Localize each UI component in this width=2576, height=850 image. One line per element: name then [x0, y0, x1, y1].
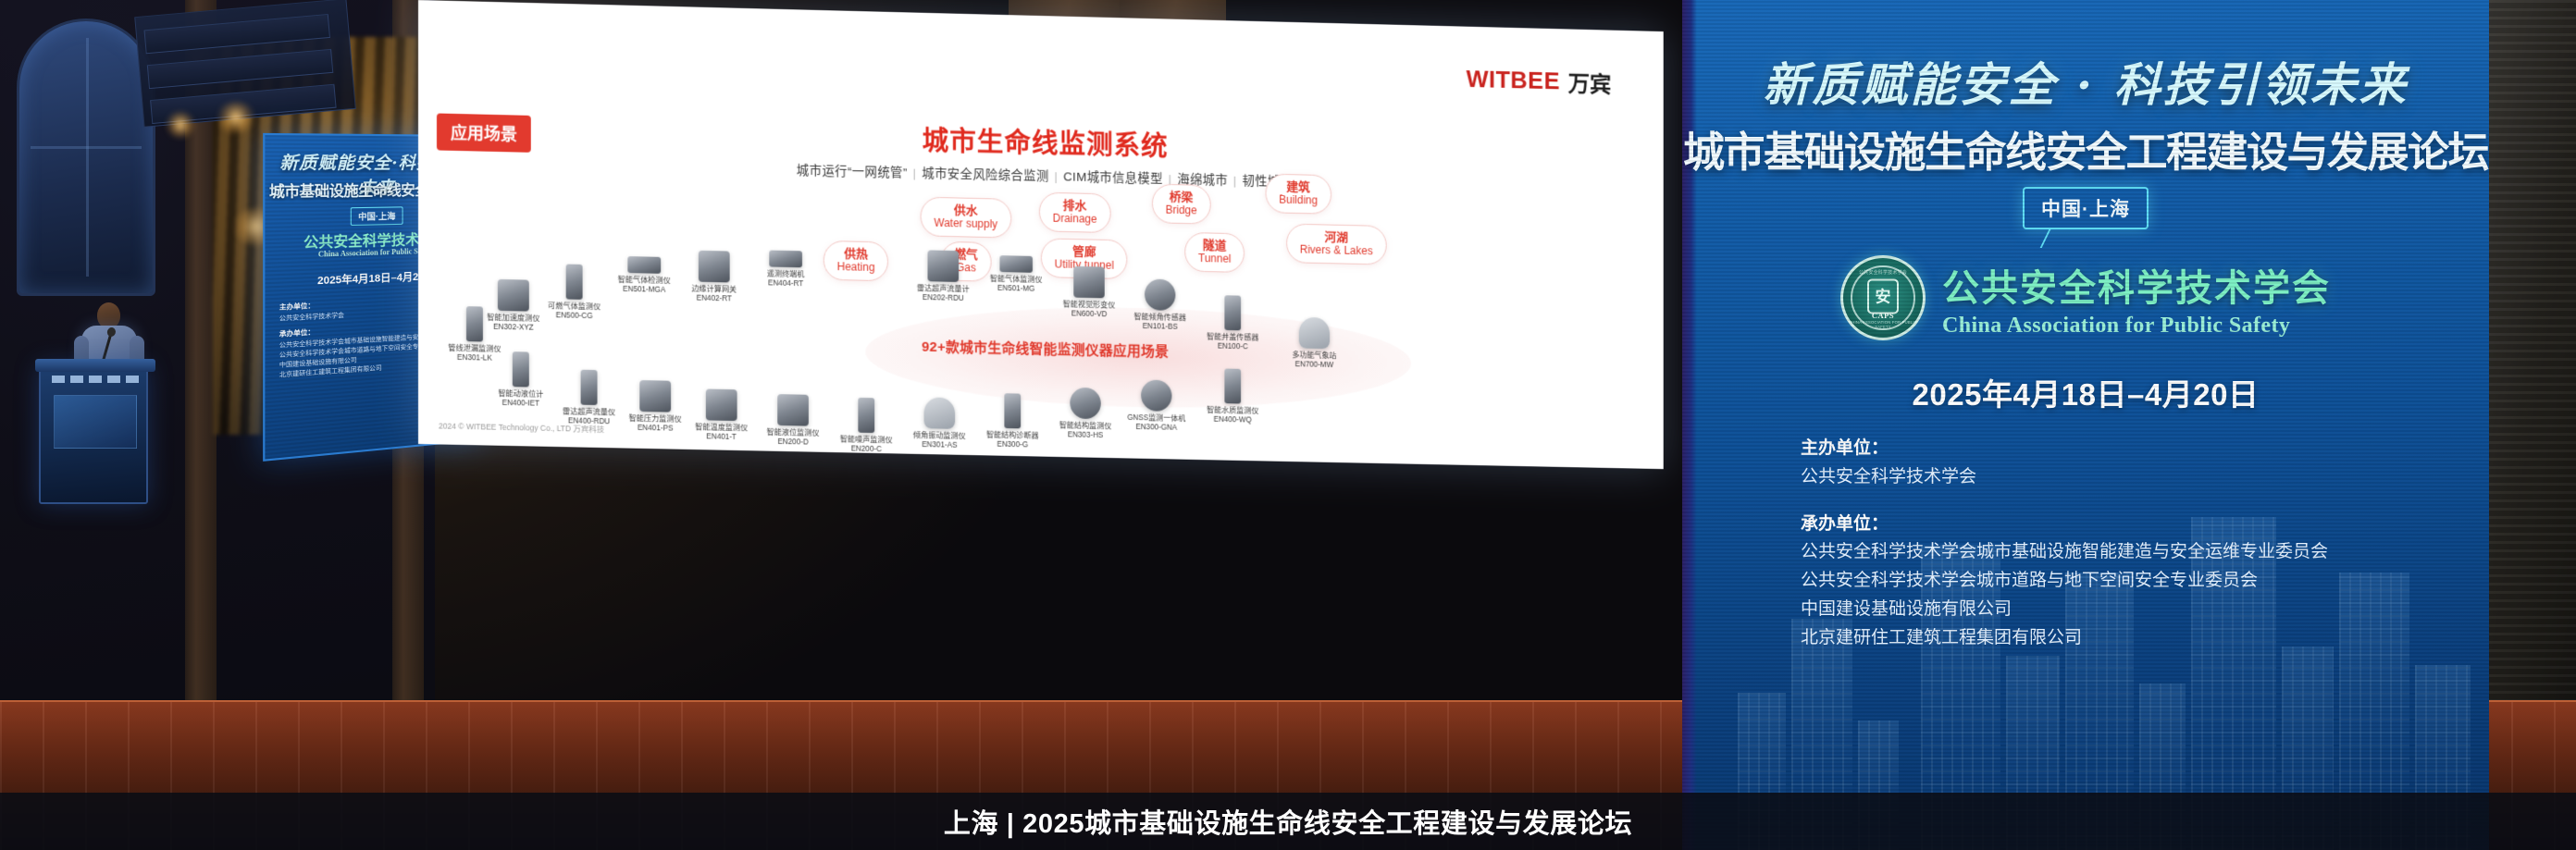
logo-abbreviation: CAPS: [1843, 311, 1923, 320]
right-led-wall: 新质赋能安全 · 科技引领未来 城市基础设施生命线安全工程建设与发展论坛 中国·…: [1682, 0, 2489, 850]
left-banner-host-label: 主办单位：: [279, 302, 315, 311]
pill-en: Heating: [837, 261, 875, 275]
device-icon: [777, 394, 809, 426]
organizer-name-3: 北京建研住工建筑工程集团有限公司: [1801, 624, 2452, 653]
witbee-logo: WITBEE 万宾: [1466, 63, 1611, 98]
device-icon: [1299, 317, 1330, 349]
device-icon: [1073, 266, 1104, 298]
wall-association-block: 公共安全科学技术学会 安 CAPS CHINA ASSOCIATION FOR …: [1682, 255, 2489, 340]
device-model: EN500-CG: [535, 311, 614, 322]
wall-event-date: 2025年4月18日–4月20日: [1682, 370, 2489, 414]
device-icon: [1224, 295, 1241, 330]
pill-en: Tunnel: [1198, 253, 1232, 265]
device-model: EN501-MGA: [604, 285, 684, 296]
witbee-logo-en: WITBEE: [1466, 65, 1559, 95]
device-icon: [1004, 393, 1021, 428]
slide-subtitle-part-0: 城市运行“一网统管”: [791, 163, 913, 179]
device-model: EN101-BS: [1121, 322, 1198, 333]
stage-spotlight: [215, 102, 257, 133]
category-pill-bridge: 桥梁 Bridge: [1152, 184, 1211, 225]
caption-text: 上海 | 2025城市基础设施生命线安全工程建设与发展论坛: [944, 802, 1632, 841]
slide-footer-copyright: 2024 © WITBEE Technology Co., LTD 万宾科技: [439, 420, 604, 435]
organizer-label: 承办单位：: [1801, 511, 2452, 539]
host-label: 主办单位：: [1801, 435, 2452, 463]
projection-screen: WITBEE 万宾 应用场景 城市生命线监测系统 城市运行“一网统管”|城市安全…: [418, 0, 1664, 469]
podium-top-surface: [35, 359, 155, 372]
speaker-head: [97, 302, 120, 328]
wall-organizer-block: 主办单位： 公共安全科学技术学会 承办单位： 公共安全科学技术学会城市基础设施智…: [1801, 435, 2452, 652]
podium-logo-panel: [54, 395, 137, 449]
device-item: 倾角振动监测仪 EN301-AS: [900, 397, 979, 451]
device-item: 遥测终端机 EN404-RT: [747, 250, 825, 289]
conference-stage-photo: 新质赋能安全·科技引领未来 城市基础设施生命线安全工程建设与发展论坛 中国·上海…: [0, 0, 2576, 850]
device-item: 雷达超声流量计 EN202-RDU: [904, 250, 983, 304]
device-model: EN302-XYZ: [474, 323, 553, 334]
device-item: 智能气体监测仪 EN501-MG: [977, 255, 1056, 295]
device-item: 智能水质监测仪 EN400-WQ: [1194, 368, 1271, 426]
bottom-caption-bar: 上海 | 2025城市基础设施生命线安全工程建设与发展论坛: [0, 793, 2576, 850]
stage-spotlight: [165, 111, 196, 139]
device-model: EN300-GNA: [1118, 423, 1195, 434]
device-icon: [924, 397, 956, 428]
device-icon: [1224, 369, 1241, 404]
podium-text-strip: [52, 376, 141, 383]
category-pill-heating: 供热 Heating: [824, 240, 889, 281]
device-item: 边缘计算网关 EN402-RT: [675, 250, 753, 304]
device-model: EN303-HS: [1046, 430, 1125, 441]
device-model: EN600-VD: [1050, 309, 1129, 320]
pill-en: Water supply: [934, 217, 997, 231]
device-icon: [999, 255, 1032, 273]
category-pill-tunnel: 隧道 Tunnel: [1184, 232, 1245, 273]
device-icon: [928, 250, 960, 282]
organizer-name-0: 公共安全科学技术学会城市基础设施智能建造与安全运维专业委员会: [1801, 538, 2452, 567]
device-icon: [769, 251, 802, 268]
wall-location-badge: 中国·上海: [2023, 187, 2149, 229]
slide-subtitle-part-2: CIM城市信息模型: [1058, 169, 1168, 186]
logo-arc-top-text: 公共安全科学技术学会: [1843, 269, 1923, 276]
logo-arc-bottom-text: CHINA ASSOCIATION FOR PUBLIC SAFETY: [1843, 320, 1923, 329]
category-pill-rivers-lakes: 河湖 Rivers & Lakes: [1286, 224, 1386, 265]
left-banner-location-badge: 中国·上海: [351, 206, 403, 226]
caps-association-logo: 公共安全科学技术学会 安 CAPS CHINA ASSOCIATION FOR …: [1840, 255, 1926, 340]
device-model: EN301-AS: [900, 440, 979, 451]
device-model: EN400-WQ: [1194, 415, 1271, 426]
device-model: EN401-T: [682, 432, 761, 443]
device-item: 智能倾角传感器 EN101-BS: [1121, 278, 1198, 333]
association-name-en: China Association for Public Safety: [1942, 314, 2331, 339]
pill-en: Drainage: [1053, 213, 1097, 227]
device-item: 多功能气象站 EN700-MW: [1275, 316, 1353, 371]
device-icon: [1070, 388, 1100, 419]
pill-en: Bridge: [1166, 204, 1197, 217]
host-name-0: 公共安全科学技术学会: [1801, 463, 2452, 492]
pill-en: Rivers & Lakes: [1300, 244, 1373, 258]
device-model: EN402-RT: [675, 293, 753, 304]
device-icon: [1145, 278, 1175, 310]
device-model: EN404-RT: [747, 278, 825, 289]
device-model: EN202-RDU: [904, 293, 983, 304]
device-icon: [858, 398, 874, 433]
speaker-podium: [39, 365, 148, 504]
category-pill-water-supply: 供水 Water supply: [921, 197, 1011, 239]
organizer-name-1: 公共安全科学技术学会城市道路与地下空间安全专业委员会: [1801, 567, 2452, 596]
device-icon: [639, 380, 671, 413]
device-item: 智能噪声监测仪 EN200-C: [827, 397, 906, 455]
device-model: EN100-C: [1194, 341, 1271, 352]
device-item: GNSS监测一体机 EN300-GNA: [1118, 379, 1195, 434]
association-name-block: 公共安全科学技术学会 China Association for Public …: [1942, 258, 2331, 339]
pill-en: Building: [1279, 194, 1318, 208]
association-name-cn: 公共安全科学技术学会: [1942, 258, 2331, 312]
decorative-arch-window: [17, 18, 155, 296]
device-item: 智能结构诊断器 EN300-G: [973, 393, 1052, 451]
device-model: EN300-G: [973, 439, 1052, 450]
witbee-logo-cn: 万宾: [1568, 66, 1612, 99]
category-pill-building: 建筑 Building: [1266, 174, 1331, 215]
device-item: 可燃气体监测仪 EN500-CG: [535, 264, 614, 322]
wall-calligraphy-slogan: 新质赋能安全 · 科技引领未来: [1682, 48, 2489, 115]
device-icon: [699, 251, 730, 283]
logo-shield-icon: 安: [1867, 278, 1899, 314]
device-icon: [566, 265, 583, 300]
device-icon: [581, 370, 598, 405]
device-icon: [1141, 379, 1171, 411]
slide-subtitle-part-1: 城市安全风险综合监测: [916, 166, 1054, 183]
device-model: EN700-MW: [1275, 360, 1353, 371]
category-pill-drainage: 排水 Drainage: [1039, 192, 1110, 233]
device-item: 智能气体检测仪 EN501-MGA: [604, 256, 684, 296]
device-item: 智能液位监测仪 EN200-D: [753, 394, 832, 449]
device-model: EN200-C: [827, 444, 906, 455]
device-item: 智能视觉形变仪 EN600-VD: [1050, 265, 1129, 320]
device-icon: [513, 351, 529, 387]
logo-glyph: 安: [1876, 289, 1891, 304]
device-item: 智能温度监测仪 EN401-T: [682, 388, 761, 443]
device-icon: [627, 256, 661, 274]
wall-forum-title: 城市基础设施生命线安全工程建设与发展论坛: [1682, 118, 2489, 179]
device-item: 智能结构监测仪 EN303-HS: [1046, 387, 1125, 441]
device-icon: [498, 279, 529, 312]
device-item: 智能井盖传感器 EN100-C: [1194, 295, 1271, 353]
left-banner-organizer-label: 承办单位：: [279, 329, 315, 339]
device-icon: [706, 388, 737, 421]
device-model: EN501-MG: [977, 284, 1056, 295]
device-model: EN200-D: [753, 437, 832, 449]
organizer-name-2: 中国建设基础设施有限公司: [1801, 596, 2452, 624]
